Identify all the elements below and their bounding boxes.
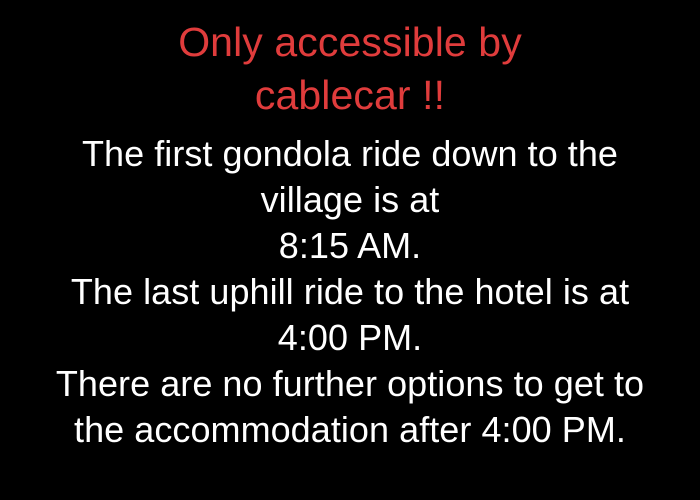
body-line-6: There are no further options to get to bbox=[5, 361, 695, 407]
body-line-2: village is at bbox=[5, 177, 695, 223]
notice-heading: Only accessible by cablecar !! bbox=[30, 16, 670, 122]
heading-line-1: Only accessible by bbox=[30, 16, 670, 69]
body-line-5-last-uphill-time: 4:00 PM. bbox=[5, 315, 695, 361]
body-line-7: the accommodation after 4:00 PM. bbox=[5, 407, 695, 453]
body-line-1: The first gondola ride down to the bbox=[5, 131, 695, 177]
body-line-3-first-gondola-time: 8:15 AM. bbox=[5, 223, 695, 269]
body-line-4: The last uphill ride to the hotel is at bbox=[5, 269, 695, 315]
notice-body: The first gondola ride down to the villa… bbox=[5, 131, 695, 453]
cablecar-notice-card: Only accessible by cablecar !! The first… bbox=[0, 0, 700, 500]
heading-line-2: cablecar !! bbox=[30, 69, 670, 122]
